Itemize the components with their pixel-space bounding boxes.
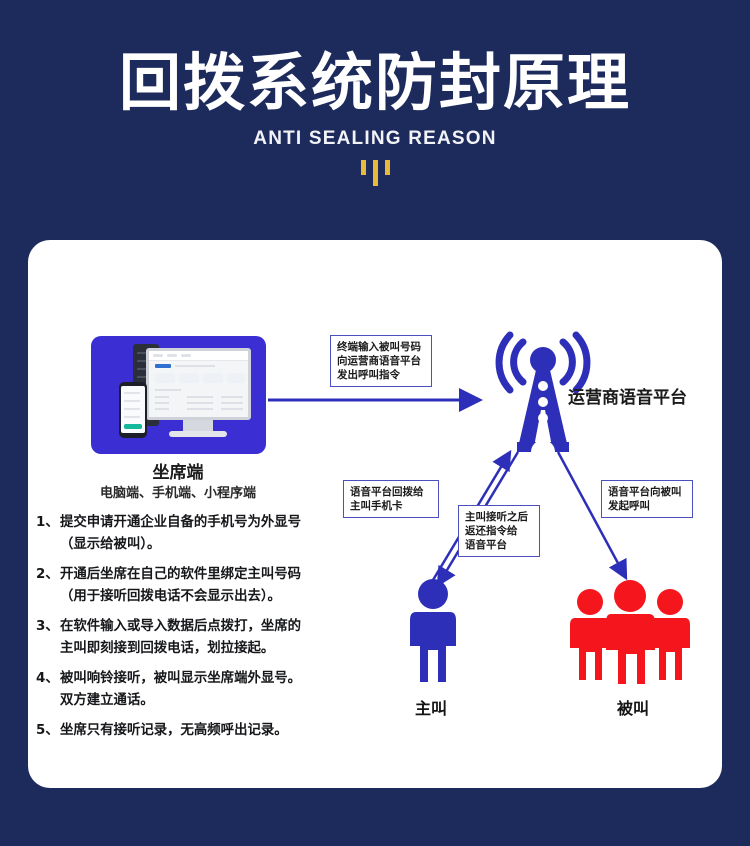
- list-item: 3、 在软件输入或导入数据后点拨打，坐席的 主叫即刻接到回拨电话，划拉接起。: [36, 616, 366, 659]
- step-text: 开通后坐席在自己的软件里绑定主叫号码 （用于接听回拨电话不会显示出去）。: [60, 564, 366, 607]
- callee-group-figure: [566, 578, 694, 686]
- diagram-card: 坐席端 电脑端、手机端、小程序端 运营商语音平台: [28, 240, 722, 788]
- tower-label: 运营商语音平台: [568, 383, 748, 408]
- tick-mark-right: [385, 160, 390, 175]
- step-number: 1、: [36, 512, 60, 555]
- step-number: 4、: [36, 668, 60, 711]
- list-item: 1、 提交申请开通企业自备的手机号为外显号 （显示给被叫）。: [36, 512, 366, 555]
- agent-terminal-illustration: [91, 336, 266, 454]
- mobile-phone-mock: [119, 382, 147, 438]
- tick-mark-center: [373, 160, 378, 186]
- callee-label: 被叫: [588, 695, 678, 719]
- steps-list: 1、 提交申请开通企业自备的手机号为外显号 （显示给被叫）。 2、 开通后坐席在…: [36, 512, 366, 751]
- callout-tower-to-callee: 语音平台向被叫 发起呼叫: [601, 480, 693, 518]
- monitor-base: [169, 431, 227, 437]
- list-item: 2、 开通后坐席在自己的软件里绑定主叫号码 （用于接听回拨电话不会显示出去）。: [36, 564, 366, 607]
- desktop-monitor-mock: [146, 348, 251, 420]
- list-item: 5、 坐席只有接听记录，无高频呼出记录。: [36, 720, 366, 742]
- page-header: 回拨系统防封原理 ANTI SEALING REASON: [0, 0, 750, 215]
- terminal-sublabel: 电脑端、手机端、小程序端: [48, 482, 308, 501]
- caller-label: 主叫: [391, 695, 471, 719]
- callout-terminal-to-tower: 终端输入被叫号码 向运营商语音平台 发出呼叫指令: [330, 335, 432, 387]
- step-number: 5、: [36, 720, 60, 742]
- page-subtitle: ANTI SEALING REASON: [0, 128, 750, 150]
- phone-screen: [121, 386, 145, 433]
- caller-figure: [398, 578, 468, 686]
- step-text: 坐席只有接听记录，无高频呼出记录。: [60, 720, 366, 742]
- step-text: 被叫响铃接听，被叫显示坐席端外显号。 双方建立通话。: [60, 668, 366, 711]
- tick-mark-left: [361, 160, 366, 175]
- callout-caller-to-tower: 主叫接听之后 返还指令给 语音平台: [458, 505, 540, 557]
- step-text: 在软件输入或导入数据后点拨打，坐席的 主叫即刻接到回拨电话，划拉接起。: [60, 616, 366, 659]
- step-text: 提交申请开通企业自备的手机号为外显号 （显示给被叫）。: [60, 512, 366, 555]
- decorative-tick-marks: [0, 160, 750, 188]
- step-number: 3、: [36, 616, 60, 659]
- monitor-toolbar: [149, 351, 248, 361]
- page-title: 回拨系统防封原理: [0, 48, 750, 118]
- step-number: 2、: [36, 564, 60, 607]
- terminal-label: 坐席端: [58, 458, 298, 483]
- list-item: 4、 被叫响铃接听，被叫显示坐席端外显号。 双方建立通话。: [36, 668, 366, 711]
